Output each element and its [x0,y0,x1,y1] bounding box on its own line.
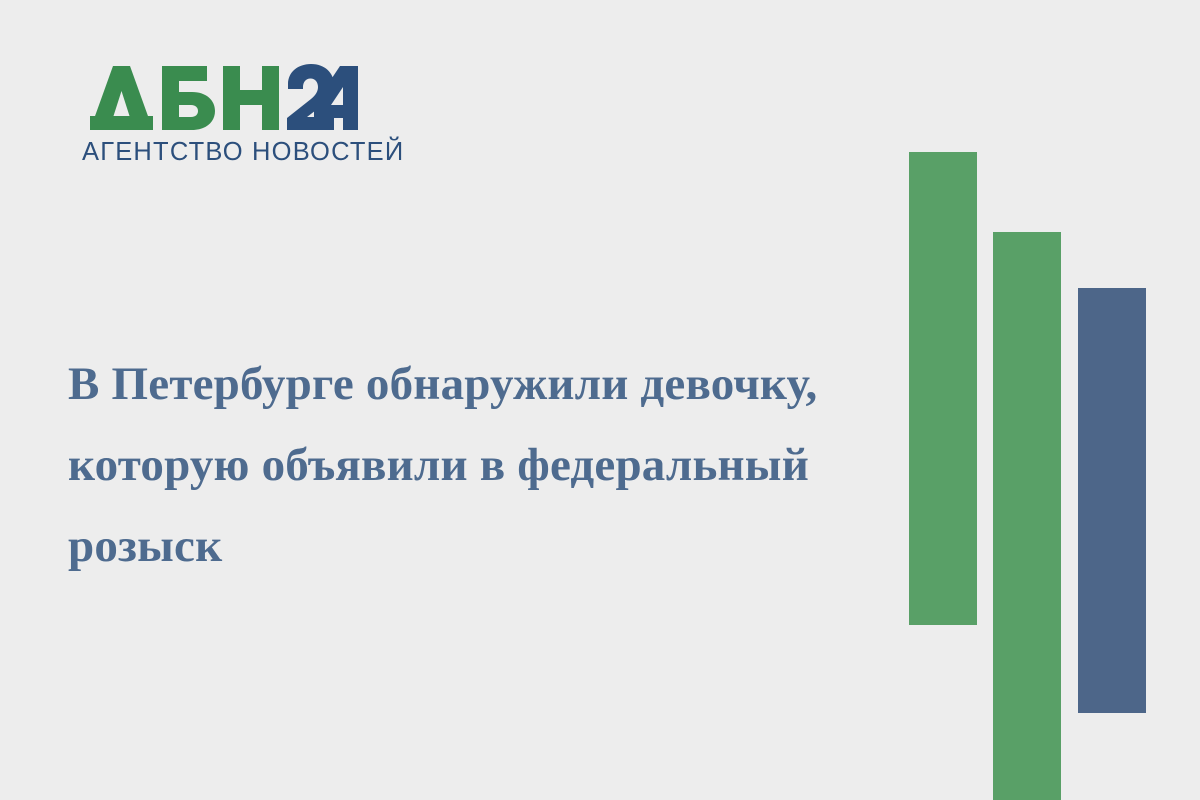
decorative-bar-3 [1078,288,1146,713]
abn24-logo[interactable]: АГЕНТСТВО НОВОСТЕЙ [82,62,372,166]
news-card: АГЕНТСТВО НОВОСТЕЙ В Петербурге обнаружи… [0,0,1200,800]
abn24-wordmark-icon [82,62,358,134]
headline: В Петербурге обнаружили девочку, которую… [68,344,878,586]
decorative-bar-2 [993,232,1061,800]
logo-tagline: АГЕНТСТВО НОВОСТЕЙ [82,140,372,166]
decorative-bar-1 [909,152,977,625]
